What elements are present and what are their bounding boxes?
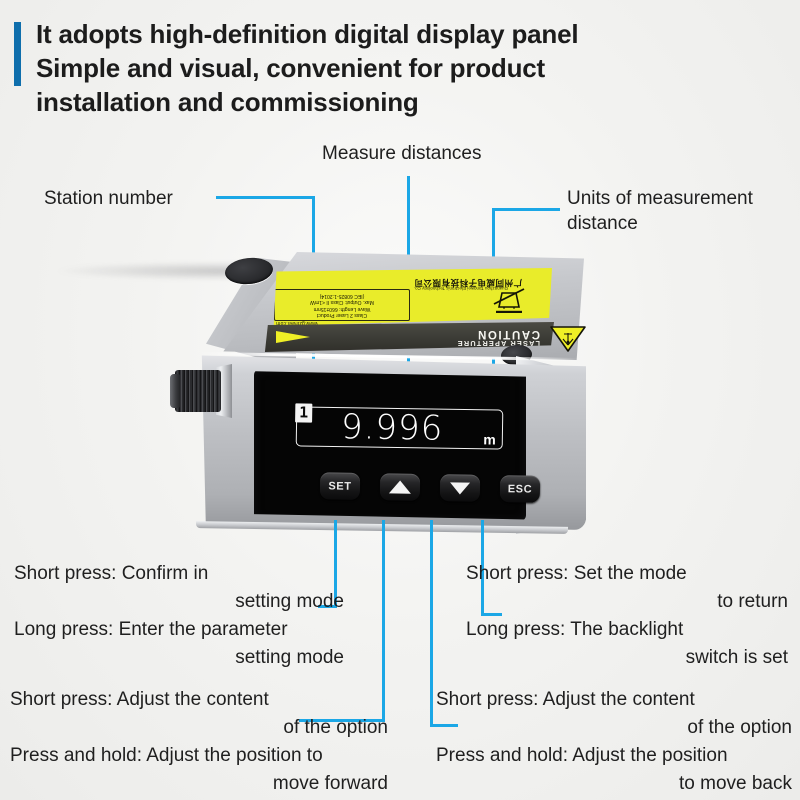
button-row: SET ESC bbox=[320, 472, 540, 503]
laser-hazard-triangle-icon bbox=[548, 324, 588, 354]
triangle-up-icon bbox=[389, 480, 411, 493]
callout-station-number: Station number bbox=[44, 186, 173, 211]
desc-set-line-3: Long press: Enter the parameter bbox=[14, 616, 344, 644]
desc-set-line-4: setting mode bbox=[14, 644, 344, 672]
headline-line-3: installation and commissioning bbox=[36, 85, 736, 119]
callout-units-of-measurement: Units of measurement distance bbox=[567, 186, 797, 236]
laser-warning-label: www.gztrwei.com Class 2 Laser Product Wa… bbox=[268, 268, 552, 326]
weee-bin-icon bbox=[490, 285, 528, 315]
set-button[interactable]: SET bbox=[320, 472, 360, 500]
desc-esc-line-1: Short press: Set the mode bbox=[466, 560, 788, 588]
leader-line-down-v bbox=[430, 520, 433, 727]
m12-connector bbox=[170, 360, 232, 420]
desc-down-line-1: Short press: Adjust the content bbox=[436, 686, 792, 714]
desc-down-line-3: Press and hold: Adjust the position bbox=[436, 742, 792, 770]
description-up-button: Short press: Adjust the content of the o… bbox=[10, 686, 388, 798]
accent-bar bbox=[14, 22, 21, 86]
page-title: It adopts high-definition digital displa… bbox=[36, 17, 736, 119]
description-esc-button: Short press: Set the mode to return Long… bbox=[466, 560, 788, 672]
desc-set-line-1: Short press: Confirm in bbox=[14, 560, 344, 588]
callout-measure-distances: Measure distances bbox=[322, 141, 481, 166]
headline-line-1: It adopts high-definition digital displa… bbox=[36, 17, 736, 51]
desc-esc-line-3: Long press: The backlight bbox=[466, 616, 788, 644]
lcd-value: 9.996 bbox=[341, 408, 444, 448]
spec-line-2: Wave Length: 660±15nm bbox=[278, 305, 406, 311]
desc-up-line-4: move forward bbox=[10, 770, 388, 798]
warning-label-spec-box: Class 2 Laser Product Wave Length: 660±1… bbox=[274, 289, 410, 321]
desc-up-line-2: of the option bbox=[10, 714, 388, 742]
lcd-unit: m bbox=[483, 431, 496, 447]
leader-line-units-h bbox=[492, 208, 560, 211]
desc-up-line-3: Press and hold: Adjust the position to bbox=[10, 742, 388, 770]
caution-text: CAUTION bbox=[476, 328, 540, 340]
esc-button-label: ESC bbox=[508, 483, 533, 495]
description-down-button: Short press: Adjust the content of the o… bbox=[436, 686, 792, 798]
desc-down-line-4: to move back bbox=[436, 770, 792, 798]
desc-esc-line-4: switch is set bbox=[466, 644, 788, 672]
desc-set-line-2: setting mode bbox=[14, 588, 344, 616]
connector-cap bbox=[170, 374, 180, 408]
lcd-station-number: 1 bbox=[295, 403, 312, 422]
description-set-button: Short press: Confirm in setting mode Lon… bbox=[14, 560, 344, 672]
desc-esc-line-2: to return bbox=[466, 588, 788, 616]
esc-button[interactable]: ESC bbox=[500, 475, 540, 503]
up-button[interactable] bbox=[380, 473, 420, 501]
laser-distance-sensor: www.gztrwei.com Class 2 Laser Product Wa… bbox=[170, 252, 600, 537]
set-button-label: SET bbox=[328, 480, 351, 492]
down-button[interactable] bbox=[440, 474, 480, 502]
spec-line-1: Class 2 Laser Product bbox=[278, 312, 406, 318]
desc-up-line-1: Short press: Adjust the content bbox=[10, 686, 388, 714]
triangle-down-icon bbox=[450, 482, 470, 494]
headline-line-2: Simple and visual, convenient for produc… bbox=[36, 51, 736, 85]
leader-line-station-h bbox=[216, 196, 315, 199]
caution-arrow-icon bbox=[276, 331, 310, 343]
spec-line-4: (IEC 60825-1:2014) bbox=[278, 292, 406, 298]
spec-line-3: Max. Output: Class II <1mW bbox=[278, 299, 406, 305]
infographic-canvas: It adopts high-definition digital displa… bbox=[0, 0, 800, 800]
lcd-readout: 1 9.996 m bbox=[296, 406, 504, 449]
connector-threads bbox=[175, 370, 221, 412]
desc-down-line-2: of the option bbox=[436, 714, 792, 742]
